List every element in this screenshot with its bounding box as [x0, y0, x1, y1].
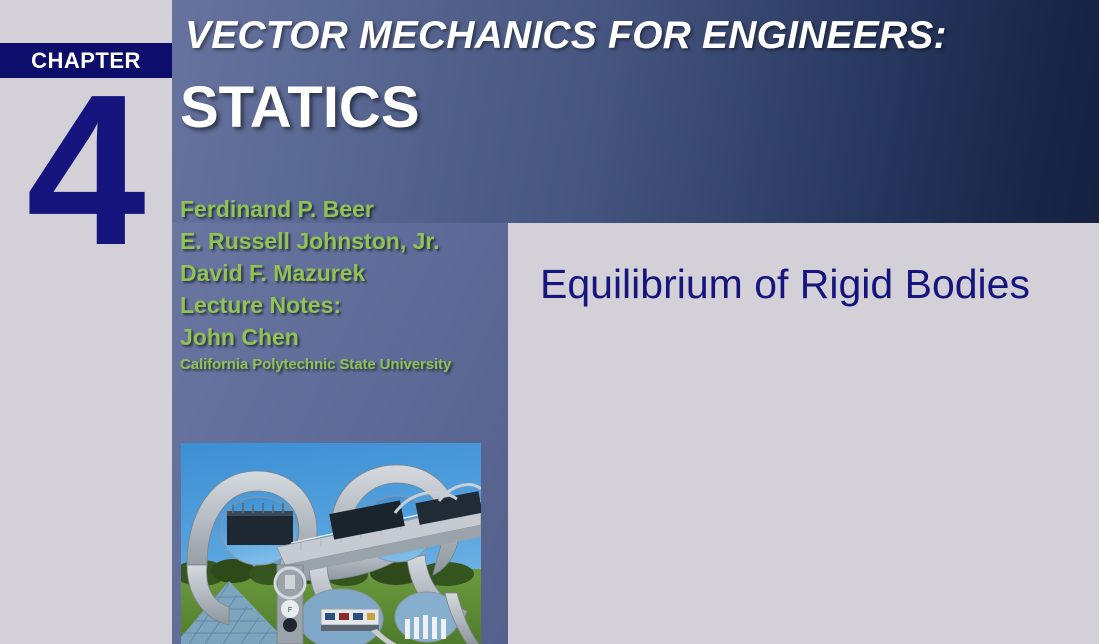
book-subtitle: STATICS	[180, 79, 420, 137]
svg-text:F: F	[288, 607, 292, 614]
book-title: VECTOR MECHANICS FOR ENGINEERS:	[185, 16, 1085, 55]
lecturer-name: John Chen	[180, 321, 510, 353]
author-line: Ferdinand P. Beer	[180, 193, 510, 225]
page-title: Equilibrium of Rigid Bodies	[540, 256, 1060, 313]
author-list: Ferdinand P. Beer E. Russell Johnston, J…	[180, 193, 510, 377]
content-panel: Equilibrium of Rigid Bodies	[508, 223, 1099, 644]
slide-root: CHAPTER 4 VECTOR MECHANICS FOR ENGINEERS…	[0, 0, 1099, 644]
falkirk-wheel-illustration: F	[181, 443, 481, 644]
falkirk-wheel-photo: F	[181, 443, 481, 644]
author-line: David F. Mazurek	[180, 257, 510, 289]
author-line: E. Russell Johnston, Jr.	[180, 225, 510, 257]
affiliation-label: California Polytechnic State University	[180, 353, 510, 377]
lecture-notes-label: Lecture Notes:	[180, 289, 510, 321]
chapter-number: 4	[0, 62, 172, 277]
